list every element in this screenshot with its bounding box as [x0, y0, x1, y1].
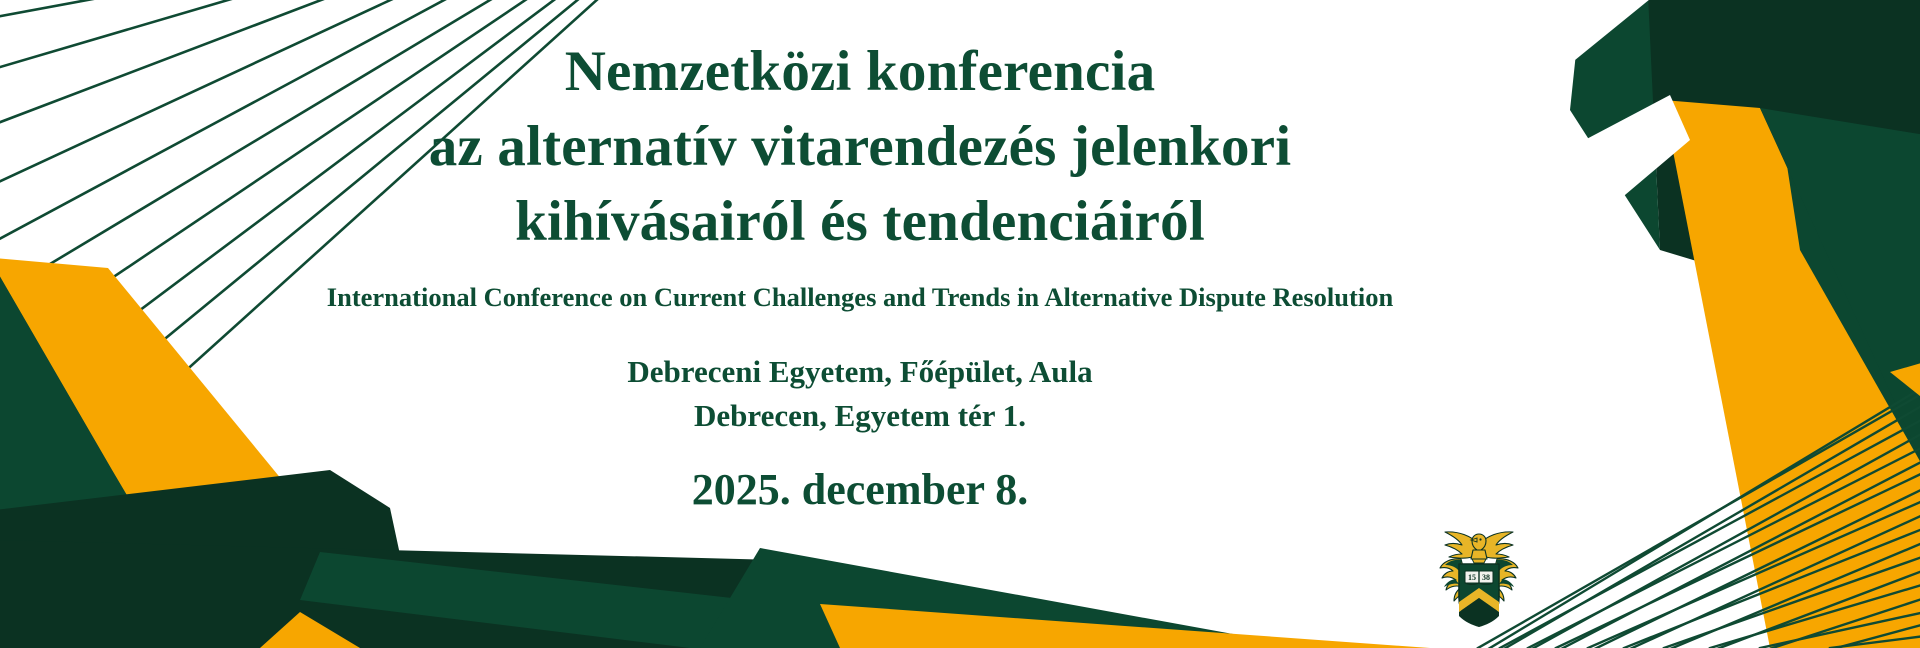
background-graphics	[0, 0, 1920, 648]
conference-banner: Nemzetközi konferencia az alternatív vit…	[0, 0, 1920, 648]
